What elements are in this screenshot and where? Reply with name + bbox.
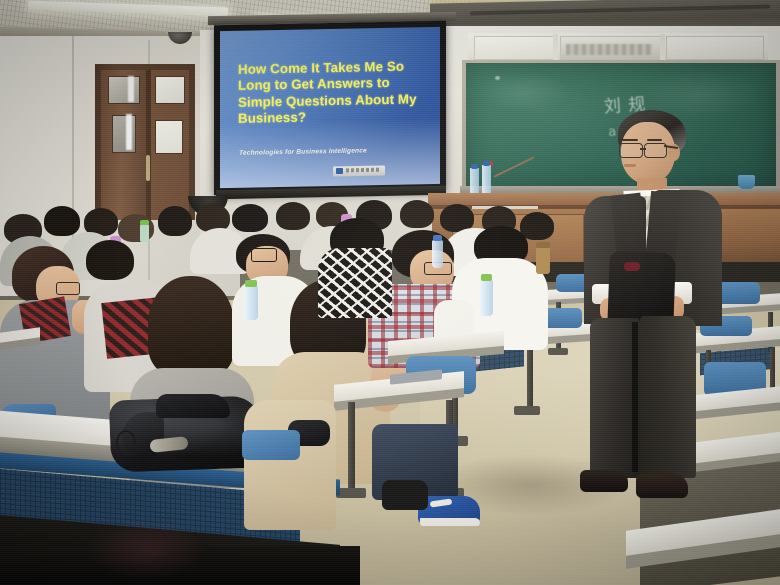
door-window-pane <box>155 76 185 104</box>
eyeglasses-icon <box>56 282 80 295</box>
water-bottle-cap <box>433 235 442 241</box>
window-mullion <box>660 34 665 60</box>
window-reflection <box>566 44 652 55</box>
sneaker-sole <box>420 518 480 526</box>
speaker-trouser-right <box>640 316 696 478</box>
speaker-shoe-right <box>636 474 688 498</box>
water-bottle-cap <box>471 164 478 169</box>
door-window-pane <box>155 120 183 154</box>
student-hair <box>86 240 134 280</box>
slide-logo-text <box>346 168 380 173</box>
water-bottle-cap <box>483 161 490 166</box>
chalk-mark <box>495 76 500 80</box>
dark-shoe <box>382 480 428 510</box>
eyeglasses-bridge <box>640 148 646 150</box>
water-bottle <box>432 240 443 268</box>
chair-back[interactable] <box>242 430 300 460</box>
bag-handle <box>116 430 136 456</box>
classroom-photo: How Come It Takes Me So Long to Get Answ… <box>0 0 780 585</box>
student-head <box>232 204 268 232</box>
water-bottle <box>480 280 493 316</box>
slide-title: How Come It Takes Me So Long to Get Answ… <box>238 58 434 127</box>
speaker-shoe-left <box>580 470 628 492</box>
eyeglasses-icon <box>619 143 643 158</box>
slide-logo-mark-icon <box>336 168 343 174</box>
bag-top <box>156 394 230 418</box>
water-bottle <box>244 286 258 320</box>
student-patterned-top <box>318 248 392 318</box>
door-handle[interactable] <box>146 155 150 181</box>
held-coat-detail <box>624 262 640 271</box>
desk-foot <box>336 488 366 498</box>
student-hair-long <box>148 276 234 376</box>
door-window-pane <box>108 76 140 104</box>
door-glass-highlight <box>126 114 132 150</box>
eyeglasses-icon <box>251 248 277 262</box>
door-window-pane <box>112 115 136 153</box>
speaker-eyebrow <box>647 139 662 141</box>
door-mullion <box>146 70 151 220</box>
snack-jar-lid <box>536 242 550 248</box>
snack-jar <box>536 246 550 274</box>
speaker-mouth <box>624 164 636 167</box>
student-head <box>158 206 192 236</box>
window-pane <box>474 36 556 60</box>
water-bottle <box>482 165 491 194</box>
desk-leg <box>527 342 533 410</box>
window-pane <box>666 36 764 60</box>
student-head <box>520 212 554 240</box>
speaker-trouser-crease <box>632 322 638 472</box>
door-glass-highlight <box>128 76 134 102</box>
speaker-eyebrow <box>622 139 638 141</box>
water-bottle <box>470 168 479 194</box>
water-bottle-cap <box>245 280 257 287</box>
blackboard-smudge <box>480 72 570 112</box>
foreground-fabric <box>86 520 206 580</box>
blue-cup <box>738 175 755 189</box>
water-bottle-cap <box>140 220 149 225</box>
student-head <box>276 202 310 230</box>
student-head <box>44 206 80 236</box>
desk-foot <box>514 406 540 415</box>
window-mullion <box>553 34 558 60</box>
water-bottle-cap <box>481 274 492 281</box>
water-bottle <box>140 224 149 242</box>
student-head <box>400 200 434 228</box>
desk-leg <box>348 402 355 492</box>
desk-foot <box>548 348 568 355</box>
